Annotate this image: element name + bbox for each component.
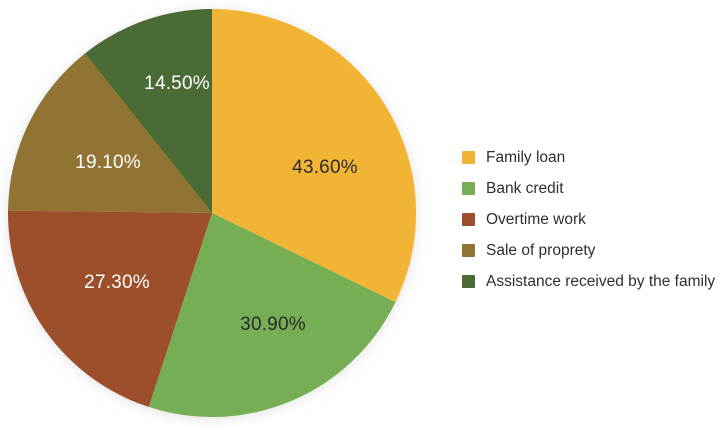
pie-slice-value-label: 19.10% xyxy=(75,152,141,173)
legend-label-assistance: Assistance received by the family xyxy=(486,273,715,291)
legend-swatch-family-loan xyxy=(462,151,475,164)
pie-slice-value-label: 14.50% xyxy=(144,73,210,94)
legend-swatch-assistance xyxy=(462,275,475,288)
pie-slice-value-label: 43.60% xyxy=(292,157,358,178)
legend-swatch-bank-credit xyxy=(462,182,475,195)
legend-label-overtime-work: Overtime work xyxy=(486,211,586,229)
pie-slice-value-label: 27.30% xyxy=(84,272,150,293)
legend-item-assistance[interactable]: Assistance received by the family xyxy=(462,266,720,297)
legend-label-bank-credit: Bank credit xyxy=(486,180,564,198)
legend-item-bank-credit[interactable]: Bank credit xyxy=(462,173,720,204)
pie-slices-svg: 43.60%30.90%27.30%19.10%14.50% xyxy=(7,8,417,418)
pie-chart-figure: 43.60%30.90%27.30%19.10%14.50% Family lo… xyxy=(0,0,721,426)
legend-swatch-sale-of-proprety xyxy=(462,244,475,257)
legend-item-sale-of-proprety[interactable]: Sale of proprety xyxy=(462,235,720,266)
legend-label-sale-of-proprety: Sale of proprety xyxy=(486,242,595,260)
chart-legend: Family loan Bank credit Overtime work Sa… xyxy=(462,142,720,297)
legend-swatch-overtime-work xyxy=(462,213,475,226)
legend-item-family-loan[interactable]: Family loan xyxy=(462,142,720,173)
pie-chart: 43.60%30.90%27.30%19.10%14.50% xyxy=(7,8,417,418)
legend-label-family-loan: Family loan xyxy=(486,149,565,167)
pie-slice-value-label: 30.90% xyxy=(240,314,306,335)
pie-slice-group xyxy=(8,9,416,417)
legend-item-overtime-work[interactable]: Overtime work xyxy=(462,204,720,235)
